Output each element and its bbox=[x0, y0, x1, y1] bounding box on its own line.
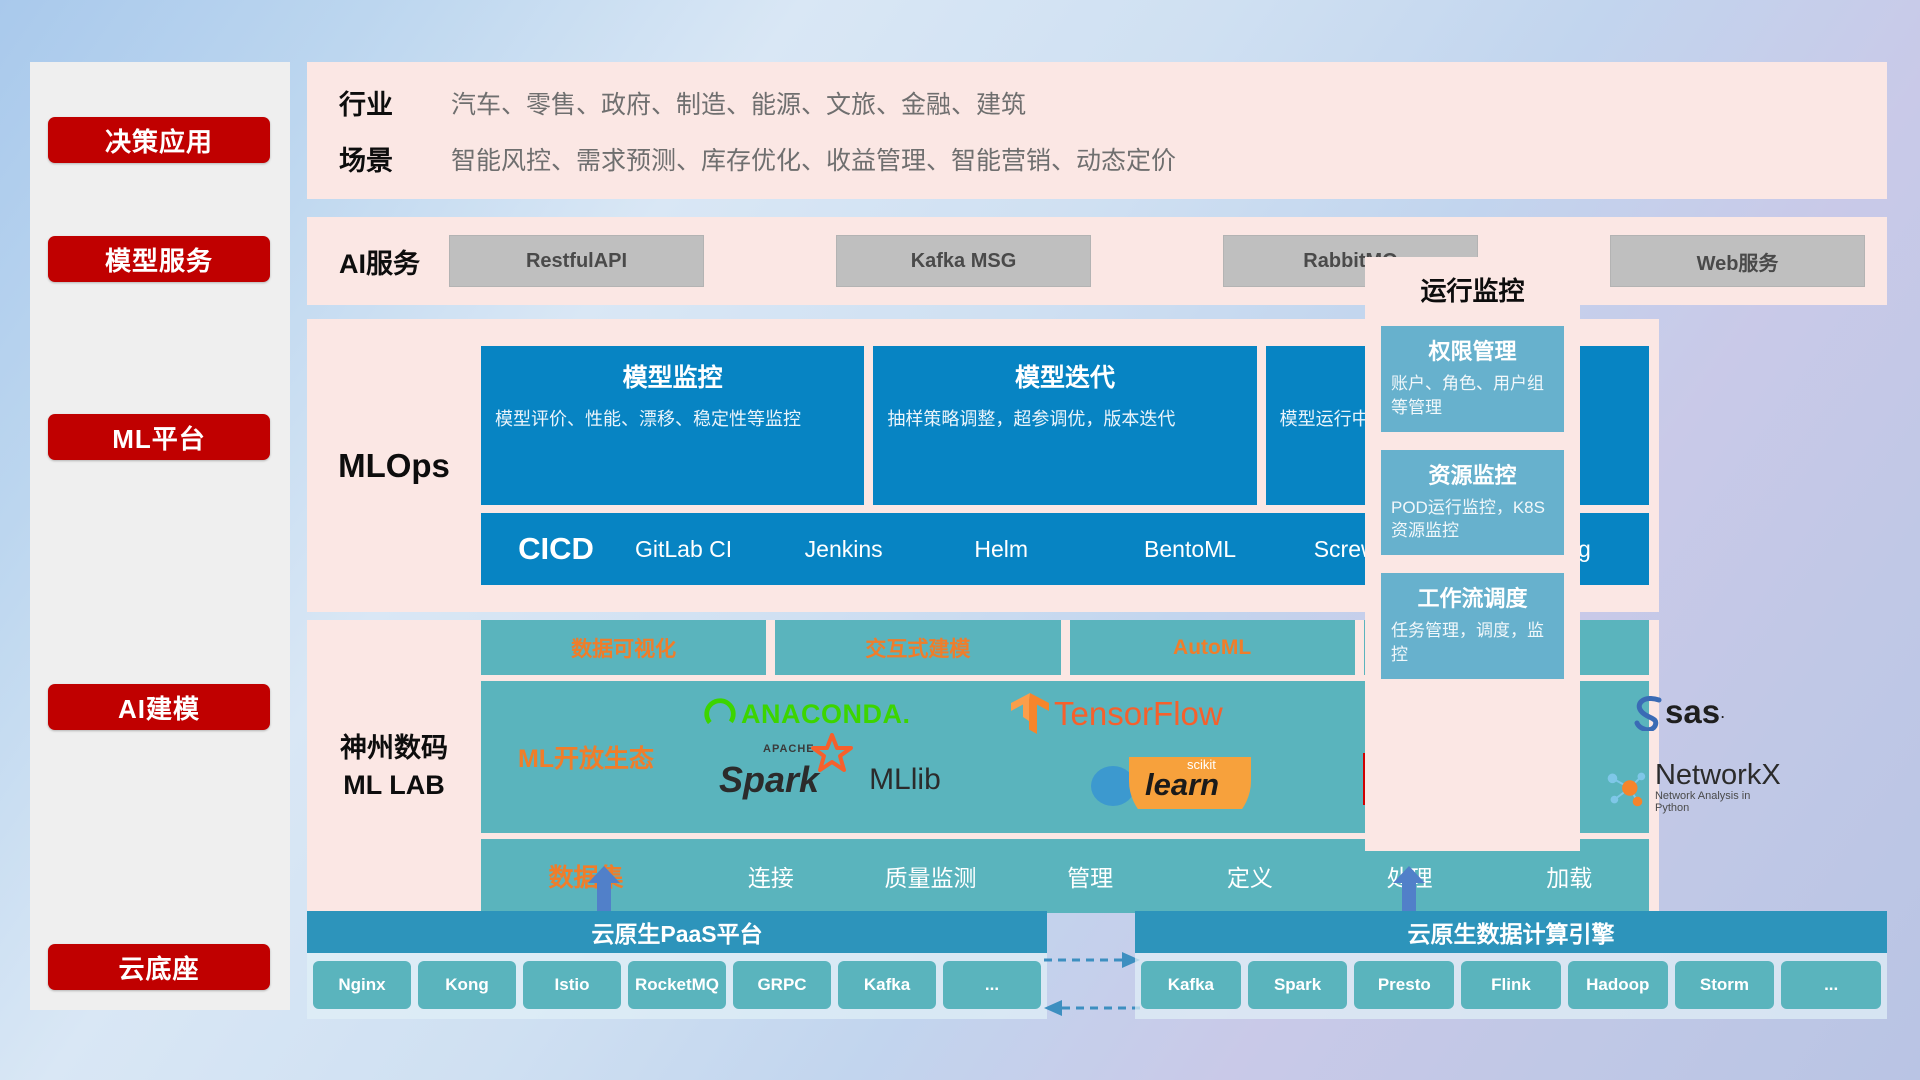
eco-label: ML开放生态 bbox=[481, 739, 691, 775]
scikit-learn-logo: scikit learn bbox=[1089, 755, 1253, 814]
industry-value: 汽车、零售、政府、制造、能源、文旅、金融、建筑 bbox=[451, 75, 1887, 131]
scenario-label: 场景 bbox=[339, 131, 451, 187]
layer-rail: 决策应用 模型服务 ML平台 AI建模 云底座 bbox=[30, 62, 290, 1010]
card-title: 权限管理 bbox=[1391, 334, 1554, 366]
card-title: 资源监控 bbox=[1391, 458, 1554, 490]
engine-chip-kafka[interactable]: Kafka bbox=[1141, 961, 1241, 1009]
rail-chip-cloud-base[interactable]: 云底座 bbox=[48, 944, 270, 990]
mllab-label: 神州数码 ML LAB bbox=[307, 730, 481, 803]
card-desc: 任务管理，调度，监控 bbox=[1391, 619, 1554, 667]
engine-chip-flink[interactable]: Flink bbox=[1461, 961, 1561, 1009]
tool-interactive-modeling[interactable]: 交互式建模 bbox=[775, 620, 1060, 675]
rail-chip-label: 模型服务 bbox=[105, 241, 213, 278]
rail-chip-ai-modeling[interactable]: AI建模 bbox=[48, 684, 270, 730]
engine-items: Kafka Spark Presto Flink Hadoop Storm ..… bbox=[1135, 953, 1887, 1019]
rail-chip-label: 云底座 bbox=[118, 949, 199, 986]
cicd-item-gitlab-ci[interactable]: GitLab CI bbox=[631, 535, 801, 564]
mlops-card-model-monitoring[interactable]: 模型监控 模型评价、性能、漂移、稳定性等监控 bbox=[481, 346, 864, 505]
spark-mllib-logo: APACHE Spark MLlib bbox=[719, 759, 941, 801]
mlops-label: MLOps bbox=[307, 447, 481, 485]
engine-title: 云原生数据计算引擎 bbox=[1135, 911, 1887, 953]
paas-chip-grpc[interactable]: GRPC bbox=[733, 961, 831, 1009]
mllab-label-line1: 神州数码 bbox=[307, 730, 481, 766]
tool-automl[interactable]: AutoML bbox=[1070, 620, 1355, 675]
rail-chip-decision[interactable]: 决策应用 bbox=[48, 117, 270, 163]
paas-title: 云原生PaaS平台 bbox=[307, 911, 1047, 953]
paas-chip-nginx[interactable]: Nginx bbox=[313, 961, 411, 1009]
sas-logo: sas . bbox=[1629, 693, 1725, 731]
ai-service-band: AI服务 RestfulAPI Kafka MSG RabbitMQ Web服务 bbox=[307, 217, 1887, 305]
bidirectional-dashed-arrows bbox=[1042, 946, 1142, 1026]
mllab-label-line2: ML LAB bbox=[307, 767, 481, 803]
industry-label: 行业 bbox=[339, 75, 451, 131]
cicd-title: CICD bbox=[481, 531, 631, 567]
paas-chip-rocketmq[interactable]: RocketMQ bbox=[628, 961, 726, 1009]
tensorflow-logo: TensorFlow bbox=[1009, 691, 1223, 737]
mlops-card-model-iteration[interactable]: 模型迭代 抽样策略调整，超参调优，版本迭代 bbox=[873, 346, 1256, 505]
cicd-item-helm[interactable]: Helm bbox=[970, 535, 1140, 564]
engine-chip-storm[interactable]: Storm bbox=[1675, 961, 1775, 1009]
up-arrow-icon bbox=[587, 866, 621, 912]
ai-service-items: RestfulAPI Kafka MSG RabbitMQ Web服务 bbox=[449, 235, 1865, 287]
card-desc: 模型评价、性能、漂移、稳定性等监控 bbox=[495, 406, 850, 432]
monitor-card-permission[interactable]: 权限管理 账户、角色、用户组等管理 bbox=[1381, 326, 1564, 432]
card-title: 模型迭代 bbox=[887, 358, 1242, 394]
monitor-card-workflow[interactable]: 工作流调度 任务管理，调度，监控 bbox=[1381, 573, 1564, 679]
ai-service-item-restfulapi[interactable]: RestfulAPI bbox=[449, 235, 704, 287]
industry-values: 汽车、零售、政府、制造、能源、文旅、金融、建筑 智能风控、需求预测、库存优化、收… bbox=[451, 75, 1887, 187]
rail-chip-label: AI建模 bbox=[118, 689, 200, 726]
paas-chip-more[interactable]: ... bbox=[943, 961, 1041, 1009]
industry-labels: 行业 场景 bbox=[339, 75, 451, 187]
engine-chip-spark[interactable]: Spark bbox=[1248, 961, 1348, 1009]
data-engine-block: 云原生数据计算引擎 Kafka Spark Presto Flink Hadoo… bbox=[1135, 911, 1887, 1019]
rail-chip-ml-platform[interactable]: ML平台 bbox=[48, 414, 270, 460]
card-desc: 账户、角色、用户组等管理 bbox=[1391, 372, 1554, 420]
paas-chip-istio[interactable]: Istio bbox=[523, 961, 621, 1009]
paas-chip-kafka[interactable]: Kafka bbox=[838, 961, 936, 1009]
card-title: 模型监控 bbox=[495, 358, 850, 394]
run-monitor-panel: 运行监控 权限管理 账户、角色、用户组等管理 资源监控 POD运行监控，K8S资… bbox=[1365, 257, 1580, 851]
paas-chip-kong[interactable]: Kong bbox=[418, 961, 516, 1009]
up-arrow-icon bbox=[1392, 866, 1426, 912]
networkx-logo: NetworkX Network Analysis in Python bbox=[1599, 761, 1783, 814]
paas-platform-block: 云原生PaaS平台 Nginx Kong Istio RocketMQ GRPC… bbox=[307, 911, 1047, 1019]
anaconda-logo: ANACONDA . bbox=[701, 695, 910, 733]
run-monitor-title: 运行监控 bbox=[1381, 271, 1564, 308]
cicd-item-bentoml[interactable]: BentoML bbox=[1140, 535, 1310, 564]
rail-chip-label: 决策应用 bbox=[105, 122, 213, 159]
card-desc: POD运行监控，K8S资源监控 bbox=[1391, 496, 1554, 544]
card-desc: 抽样策略调整，超参调优，版本迭代 bbox=[887, 406, 1242, 432]
card-title: 工作流调度 bbox=[1391, 581, 1554, 613]
cloud-base-layer: 云原生PaaS平台 Nginx Kong Istio RocketMQ GRPC… bbox=[307, 866, 1887, 1026]
monitor-card-resource[interactable]: 资源监控 POD运行监控，K8S资源监控 bbox=[1381, 450, 1564, 556]
industry-scenario-band: 行业 场景 汽车、零售、政府、制造、能源、文旅、金融、建筑 智能风控、需求预测、… bbox=[307, 62, 1887, 199]
ai-service-item-kafka-msg[interactable]: Kafka MSG bbox=[836, 235, 1091, 287]
engine-chip-hadoop[interactable]: Hadoop bbox=[1568, 961, 1668, 1009]
engine-chip-presto[interactable]: Presto bbox=[1354, 961, 1454, 1009]
rail-chip-model-service[interactable]: 模型服务 bbox=[48, 236, 270, 282]
scenario-value: 智能风控、需求预测、库存优化、收益管理、智能营销、动态定价 bbox=[451, 131, 1887, 187]
ai-service-label: AI服务 bbox=[339, 242, 449, 281]
cicd-item-jenkins[interactable]: Jenkins bbox=[801, 535, 971, 564]
paas-items: Nginx Kong Istio RocketMQ GRPC Kafka ... bbox=[307, 953, 1047, 1019]
tool-data-visualization[interactable]: 数据可视化 bbox=[481, 620, 766, 675]
rail-chip-label: ML平台 bbox=[112, 419, 206, 456]
ai-service-item-web[interactable]: Web服务 bbox=[1610, 235, 1865, 287]
engine-chip-more[interactable]: ... bbox=[1781, 961, 1881, 1009]
